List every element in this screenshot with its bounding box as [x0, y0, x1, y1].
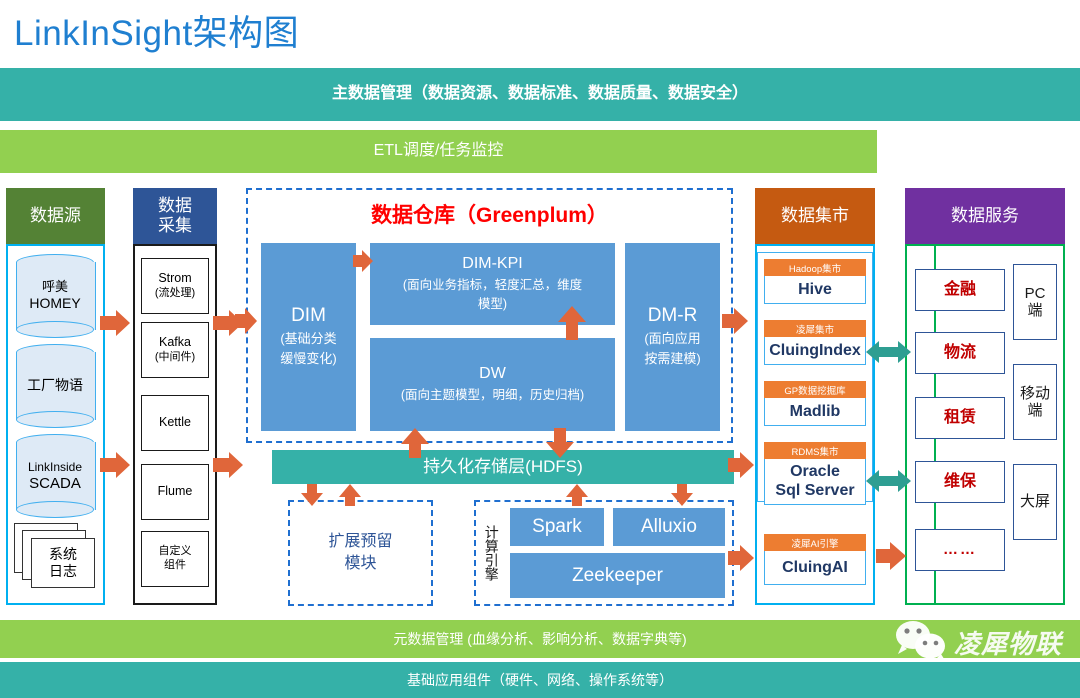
dw3-name: DM-R	[648, 305, 698, 326]
warehouse-box-dim-kpi[interactable]: DIM-KPI (面向业务指标，轻度汇总，维度 模型)	[370, 243, 615, 325]
src2-line1: LinkInside	[28, 460, 82, 474]
collection-item-kettle[interactable]: Kettle	[141, 395, 209, 451]
column-header-data-mart: 数据集市	[755, 188, 875, 244]
service-domain-more[interactable]: ……	[915, 529, 1005, 571]
src2-line2: SCADA	[29, 475, 81, 492]
data-source-label: LinkInside SCADA	[16, 434, 94, 518]
service-device-bigscreen[interactable]: 大屏	[1013, 464, 1057, 540]
src3-line1: 系统	[49, 546, 77, 562]
dw1-sub2: 模型)	[478, 297, 507, 311]
src3-line2: 日志	[49, 563, 77, 579]
data-source-item[interactable]: LinkInside SCADA	[16, 434, 94, 518]
compute-item-zeekeeper[interactable]: Zeekeeper	[510, 553, 725, 598]
arrow-collect-to-hdfs	[213, 452, 243, 478]
mart1-tag: 凌犀集市	[764, 320, 866, 337]
data-source-label: 呼美 HOMEY	[16, 254, 94, 338]
mart-item-hive[interactable]: Hadoop集市 Hive	[764, 259, 866, 304]
hdfs-storage-bar: 持久化存储层(HDFS)	[272, 450, 734, 484]
etl-scheduling-banner: ETL调度/任务监控	[0, 130, 877, 173]
mart0-name: Hive	[764, 276, 866, 304]
mart3-name: Oracle	[790, 463, 840, 481]
data-source-item[interactable]: 呼美 HOMEY	[16, 254, 94, 338]
collect-header-line2: 采集	[158, 216, 192, 236]
collect-header-line1: 数据	[158, 196, 192, 216]
arrow-collect-to-warehouse-top	[213, 310, 243, 336]
master-data-management-banner: 主数据管理（数据资源、数据标准、数据质量、数据安全）	[0, 68, 1080, 121]
service-device-mobile[interactable]: 移动 端	[1013, 364, 1057, 440]
dw0-sub1: (基础分类	[280, 331, 336, 346]
service-domain-finance[interactable]: 金融	[915, 269, 1005, 311]
collect1-name: Kafka	[159, 335, 191, 349]
collection-item-strom[interactable]: Strom (流处理)	[141, 258, 209, 314]
collect0-name: Strom	[158, 271, 191, 285]
page-title: LinkInSight架构图	[14, 4, 654, 56]
mart0-tag: Hadoop集市	[764, 259, 866, 276]
dev1-line1: 移动	[1020, 385, 1050, 402]
mart3-tag: RDMS集市	[764, 442, 866, 459]
compute-engine-label: 计算引擎	[480, 506, 502, 600]
watermark-text: 凌犀物联	[954, 624, 1062, 661]
mart-item-cluingai[interactable]: 凌犀AI引擎 CluingAI	[764, 534, 866, 585]
dw1-name: DIM-KPI	[462, 255, 522, 272]
mart2-tag: GP数据挖掘库	[764, 381, 866, 398]
column-header-data-source: 数据源	[6, 188, 105, 244]
column-header-data-collection: 数据 采集	[133, 188, 217, 244]
collection-item-custom[interactable]: 自定义 组件	[141, 531, 209, 587]
extension-reserved-module[interactable]: 扩展预留 模块	[288, 500, 433, 606]
collect4-sub: 组件	[164, 559, 186, 571]
mart1-name: CluingIndex	[764, 337, 866, 365]
dev1-line2: 端	[1027, 402, 1042, 419]
data-source-label: 工厂物语	[16, 344, 94, 428]
mart-item-madlib[interactable]: GP数据挖掘库 Madlib	[764, 381, 866, 426]
src0-line1: 呼美	[42, 279, 68, 294]
mart2-name: Madlib	[764, 398, 866, 426]
mart4-tag: 凌犀AI引擎	[764, 534, 866, 551]
collect4-name: 自定义	[159, 545, 192, 557]
compute-item-alluxio[interactable]: Alluxio	[613, 508, 725, 546]
ext-line1: 扩展预留	[328, 531, 392, 553]
service-domain-logistics[interactable]: 物流	[915, 332, 1005, 374]
mart4-name: CluingAI	[764, 551, 866, 585]
service-domain-leasing[interactable]: 租赁	[915, 397, 1005, 439]
watermark: 凌犀物联	[892, 618, 1077, 680]
src1-line1: 工厂物语	[27, 377, 83, 395]
mart3-body: Oracle Sql Server	[764, 459, 866, 505]
src0-line2: HOMEY	[29, 295, 80, 311]
warehouse-box-dim[interactable]: DIM (基础分类 缓慢变化)	[261, 243, 356, 431]
warehouse-box-dw[interactable]: DW (面向主题模型，明细，历史归档)	[370, 338, 615, 431]
arrow-cluingai-to-service	[876, 542, 906, 570]
dw2-sub1: (面向主题模型，明细，历史归档)	[401, 388, 584, 402]
collect0-sub: (流处理)	[155, 287, 195, 299]
dw0-name: DIM	[291, 305, 326, 326]
collect2-name: Kettle	[159, 415, 191, 431]
wechat-icon	[892, 618, 952, 668]
dw2-name: DW	[479, 365, 506, 382]
data-source-item[interactable]: 工厂物语	[16, 344, 94, 428]
compute-item-spark[interactable]: Spark	[510, 508, 604, 546]
ext-line2: 模块	[344, 553, 376, 575]
collection-item-flume[interactable]: Flume	[141, 464, 209, 520]
dw0-sub2: 缓慢变化)	[280, 351, 336, 366]
dev0-line1: PC	[1025, 285, 1046, 302]
system-log-label: 系统 日志	[31, 538, 95, 588]
collect3-name: Flume	[158, 484, 193, 500]
dev2-line1: 大屏	[1020, 493, 1050, 510]
dev0-line2: 端	[1027, 302, 1042, 319]
dw3-sub2: 按需建模)	[644, 351, 700, 366]
mart-item-cluingindex[interactable]: 凌犀集市 CluingIndex	[764, 320, 866, 365]
collection-item-kafka[interactable]: Kafka (中间件)	[141, 322, 209, 378]
service-domain-maintenance[interactable]: 维保	[915, 461, 1005, 503]
mart-item-oracle[interactable]: RDMS集市 Oracle Sql Server	[764, 442, 866, 505]
mart3-name2: Sql Server	[775, 482, 854, 500]
dw1-sub1: (面向业务指标，轻度汇总，维度	[403, 278, 582, 292]
column-header-data-service: 数据服务	[905, 188, 1065, 244]
warehouse-box-dmr[interactable]: DM-R (面向应用 按需建模)	[625, 243, 720, 431]
collect1-sub: (中间件)	[155, 351, 195, 363]
service-device-pc[interactable]: PC 端	[1013, 264, 1057, 340]
dw3-sub1: (面向应用	[644, 331, 700, 346]
data-warehouse-title: 数据仓库（Greenplum）	[246, 196, 733, 236]
data-source-item[interactable]: 系统 日志	[14, 523, 96, 589]
